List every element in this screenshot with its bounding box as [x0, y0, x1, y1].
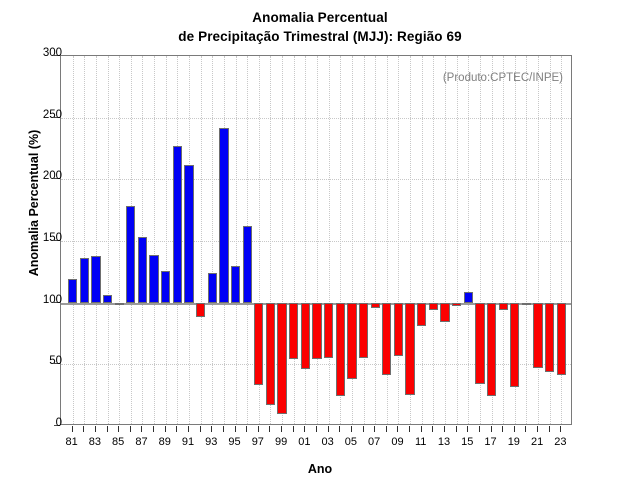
bar-91: [184, 165, 193, 303]
gridline-vertical: [538, 56, 539, 424]
bar-94: [219, 128, 228, 303]
x-tick-mark: [514, 426, 515, 432]
gridline-vertical: [398, 56, 399, 424]
bar-10: [405, 303, 414, 396]
bar-00: [289, 303, 298, 360]
gridline-vertical: [201, 56, 202, 424]
x-tick-mark: [293, 426, 294, 432]
gridline-vertical: [236, 56, 237, 424]
gridline-vertical: [84, 56, 85, 424]
bar-93: [208, 273, 217, 303]
bar-98: [266, 303, 275, 405]
gridline-vertical: [457, 56, 458, 424]
x-tick-mark: [223, 426, 224, 432]
y-tick-label: 0: [2, 417, 62, 429]
gridline-vertical: [154, 56, 155, 424]
x-tick-mark: [339, 426, 340, 432]
gridline-vertical: [166, 56, 167, 424]
x-tick-mark: [549, 426, 550, 432]
x-axis-label: Ano: [0, 462, 640, 476]
bar-23: [557, 303, 566, 376]
x-tick-mark: [141, 426, 142, 432]
x-tick-mark: [165, 426, 166, 432]
bar-83: [91, 256, 100, 303]
bar-12: [429, 303, 438, 310]
gridline-vertical: [212, 56, 213, 424]
bar-88: [149, 255, 158, 303]
gridline-vertical: [468, 56, 469, 424]
x-tick-mark: [351, 426, 352, 432]
x-tick-mark: [211, 426, 212, 432]
x-tick-mark: [72, 426, 73, 432]
gridline-vertical: [294, 56, 295, 424]
x-tick-mark: [502, 426, 503, 432]
gridline-horizontal: [61, 118, 571, 119]
bar-13: [440, 303, 449, 323]
x-tick-mark: [281, 426, 282, 432]
x-tick-mark: [421, 426, 422, 432]
bar-06: [359, 303, 368, 359]
bar-82: [80, 258, 89, 302]
bar-19: [510, 303, 519, 387]
x-tick-mark: [374, 426, 375, 432]
bar-81: [68, 279, 77, 302]
bar-97: [254, 303, 263, 386]
bar-95: [231, 266, 240, 303]
gridline-vertical: [445, 56, 446, 424]
credit-annotation: (Produto:CPTEC/INPE): [443, 72, 563, 84]
x-tick-mark: [537, 426, 538, 432]
x-tick-mark: [456, 426, 457, 432]
x-tick-mark: [432, 426, 433, 432]
x-tick-mark: [328, 426, 329, 432]
x-tick-mark: [200, 426, 201, 432]
x-tick-mark: [491, 426, 492, 432]
gridline-vertical: [96, 56, 97, 424]
gridline-vertical: [329, 56, 330, 424]
bar-03: [324, 303, 333, 359]
gridline-vertical: [526, 56, 527, 424]
bar-15: [464, 292, 473, 303]
bar-84: [103, 295, 112, 302]
x-tick-mark: [118, 426, 119, 432]
bar-85: [115, 303, 124, 305]
chart-title-line-2: de Precipitação Trimestral (MJJ): Região…: [0, 27, 640, 46]
x-tick-mark: [269, 426, 270, 432]
x-tick-mark: [95, 426, 96, 432]
bar-04: [336, 303, 345, 397]
bar-21: [533, 303, 542, 368]
bar-16: [475, 303, 484, 384]
bar-22: [545, 303, 554, 372]
bar-02: [312, 303, 321, 360]
gridline-vertical: [422, 56, 423, 424]
bar-08: [382, 303, 391, 376]
chart-figure: Anomalia Percentual de Precipitação Trim…: [0, 0, 640, 500]
x-tick-mark: [444, 426, 445, 432]
x-tick-mark: [560, 426, 561, 432]
x-tick-mark: [83, 426, 84, 432]
gridline-horizontal: [61, 179, 571, 180]
x-tick-mark: [107, 426, 108, 432]
x-tick-mark: [467, 426, 468, 432]
gridline-vertical: [433, 56, 434, 424]
bar-99: [277, 303, 286, 414]
bar-20: [522, 303, 531, 305]
bar-86: [126, 206, 135, 302]
bar-17: [487, 303, 496, 397]
bar-14: [452, 303, 461, 307]
plot-area: (Produto:CPTEC/INPE): [60, 55, 572, 425]
bar-01: [301, 303, 310, 370]
bar-87: [138, 237, 147, 302]
bar-90: [173, 146, 182, 303]
gridline-vertical: [317, 56, 318, 424]
chart-title-line-1: Anomalia Percentual: [0, 8, 640, 27]
gridline-vertical: [108, 56, 109, 424]
bar-05: [347, 303, 356, 379]
x-tick-mark: [525, 426, 526, 432]
chart-title: Anomalia Percentual de Precipitação Trim…: [0, 8, 640, 46]
x-tick-mark: [258, 426, 259, 432]
y-tick-label: 300: [2, 47, 62, 59]
x-tick-mark: [246, 426, 247, 432]
bar-18: [499, 303, 508, 310]
x-tick-mark: [316, 426, 317, 432]
x-tick-mark: [409, 426, 410, 432]
x-tick-mark: [304, 426, 305, 432]
gridline-vertical: [119, 56, 120, 424]
x-tick-mark: [188, 426, 189, 432]
x-tick-mark: [363, 426, 364, 432]
x-tick-mark: [235, 426, 236, 432]
bar-11: [417, 303, 426, 326]
x-tick-label: 23: [545, 436, 575, 448]
bar-96: [243, 226, 252, 302]
x-tick-mark: [386, 426, 387, 432]
bar-89: [161, 271, 170, 303]
gridline-vertical: [73, 56, 74, 424]
x-tick-mark: [153, 426, 154, 432]
bar-09: [394, 303, 403, 356]
x-tick-mark: [176, 426, 177, 432]
x-tick-mark: [479, 426, 480, 432]
bar-92: [196, 303, 205, 318]
x-tick-mark: [130, 426, 131, 432]
y-axis-label: Anomalia Percentual (%): [27, 83, 41, 323]
gridline-vertical: [503, 56, 504, 424]
y-tick-label: 50: [2, 355, 62, 367]
gridline-vertical: [375, 56, 376, 424]
bar-07: [371, 303, 380, 308]
gridline-vertical: [364, 56, 365, 424]
x-tick-mark: [397, 426, 398, 432]
